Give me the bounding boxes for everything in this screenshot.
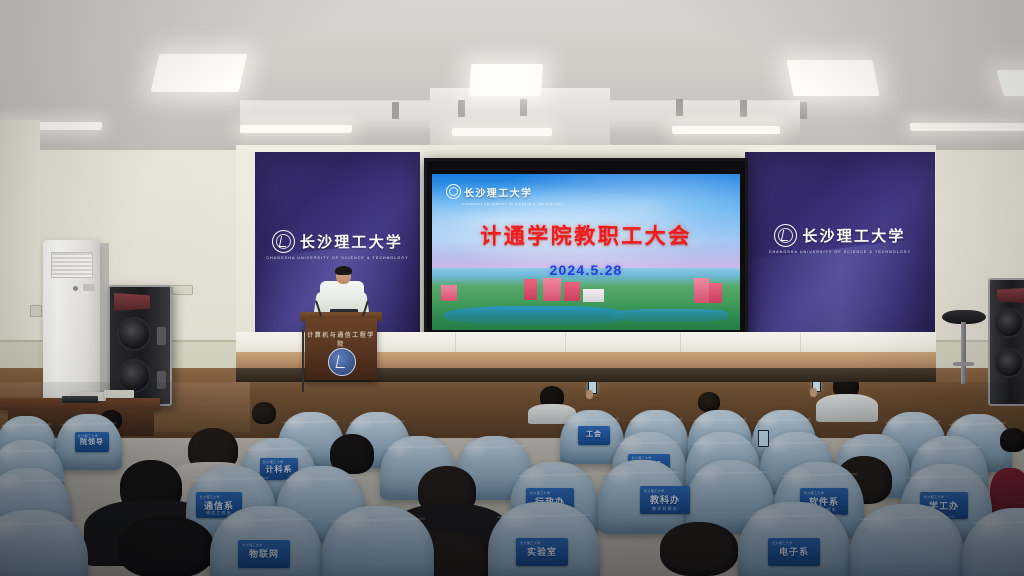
ceiling-slat [740, 100, 747, 117]
ceiling-panel-light [787, 60, 880, 96]
ceiling-slat [800, 102, 807, 119]
screen-building [524, 279, 536, 300]
ceiling-panel-light [151, 54, 248, 92]
attendee-head [252, 402, 276, 424]
speaker-horn [114, 293, 150, 311]
ceiling-strip-light [672, 126, 781, 134]
attendee-hand [810, 388, 817, 397]
attendee-head [698, 392, 720, 412]
ceiling-slat [392, 102, 399, 119]
screen-greenery [432, 304, 740, 330]
bar-stool-footrest [953, 362, 974, 366]
podium-emblem-icon [328, 348, 356, 376]
seat-nameplate: 长沙理工大学 院领导 [75, 432, 109, 452]
ceiling-soffit-center [430, 88, 610, 146]
attendee-head [660, 522, 738, 576]
seat-nameplate: 长沙理工大学 电子系 [768, 538, 820, 566]
ceiling-strip-light [452, 128, 552, 136]
wall-outlet [172, 285, 193, 295]
podium-label: 计算机与通信工程学院 [305, 330, 377, 348]
speaker-driver [994, 308, 1024, 338]
led-screen: 长沙理工大学 CHANGSHA UNIVERSITY OF SCIENCE & … [432, 174, 740, 330]
banner-right-brand: 长沙理工大学 CHANGSHA UNIVERSITY OF SCIENCE & … [745, 224, 935, 254]
university-seal-icon [774, 224, 797, 247]
air-conditioner [43, 240, 100, 400]
nameplate-header: 长沙理工大学 [520, 541, 540, 545]
wall-outlet [30, 305, 42, 317]
seat-nameplate: 长沙理工大学 物联网 [238, 540, 290, 568]
nameplate-header: 长沙理工大学 [242, 543, 262, 547]
ceiling-slat [520, 99, 527, 116]
university-seal-icon [272, 230, 295, 253]
screen-building [694, 278, 709, 303]
screen-building [441, 285, 456, 301]
banner-left-university-en: CHANGSHA UNIVERSITY OF SCIENCE & TECHNOL… [255, 256, 420, 260]
ceiling-slat [676, 99, 683, 116]
ceiling-slat [458, 100, 465, 117]
podium: 计算机与通信工程学院 [305, 318, 377, 380]
ceiling-strip-light [240, 125, 353, 133]
screen-building [583, 289, 605, 301]
ceiling-strip-light [910, 123, 1024, 131]
speaker-driver [117, 317, 151, 351]
audience-seating-area: 长沙理工大学 院领导 工会 长沙理工大学 计科系 长沙理工大学 网工系 网络工程… [0, 382, 1024, 576]
led-screen-bezel: 长沙理工大学 CHANGSHA UNIVERSITY OF SCIENCE & … [424, 158, 748, 352]
screen-building [543, 278, 561, 302]
bar-stool-post [961, 322, 966, 384]
university-seal-icon [446, 184, 461, 199]
nameplate-main: 工会 [578, 429, 610, 439]
screen-logo-cn: 长沙理工大学 [464, 188, 532, 199]
banner-right: 长沙理工大学 CHANGSHA UNIVERSITY OF SCIENCE & … [745, 152, 935, 352]
screen-date: 2024.5.28 [432, 262, 740, 278]
attendee-hand [586, 390, 593, 399]
speaker-driver [994, 348, 1024, 378]
ceiling-panel-light [469, 64, 543, 96]
ac-vent-grille [51, 252, 93, 278]
nameplate-sub: 教学科研办 [640, 506, 690, 512]
nameplate-header: 长沙理工大学 [772, 541, 792, 545]
banner-right-university-cn: 长沙理工大学 [802, 227, 905, 245]
screen-university-logo: 长沙理工大学 CHANGSHA UNIVERSITY OF SCIENCE & … [446, 183, 563, 206]
smartphone [758, 430, 769, 447]
nameplate-main: 教科办 [640, 493, 690, 506]
attendee-shoulders [816, 394, 878, 422]
nameplate-main: 院领导 [75, 437, 109, 447]
banner-left-university-cn: 长沙理工大学 [300, 233, 403, 251]
seat-nameplate: 工会 [578, 426, 610, 445]
seat-nameplate: 长沙理工大学 教科办 教学科研办 [640, 486, 690, 514]
speaker-horn [997, 288, 1024, 303]
nameplate-main: 电子系 [768, 545, 820, 558]
case-handle [157, 327, 166, 345]
nameplate-main: 物联网 [238, 547, 290, 560]
banner-left-brand: 长沙理工大学 CHANGSHA UNIVERSITY OF SCIENCE & … [255, 230, 420, 260]
screen-logo-en: CHANGSHA UNIVERSITY OF SCIENCE & TECHNOL… [462, 203, 563, 206]
presenter-hair [335, 266, 352, 275]
nameplate-header: 长沙理工大学 [644, 489, 664, 493]
screen-building [709, 283, 721, 303]
screen-title: 计通学院教职工大会 [432, 220, 740, 250]
seat [0, 510, 88, 576]
lecture-hall-photo: 长沙理工大学 CHANGSHA UNIVERSITY OF SCIENCE & … [0, 0, 1024, 576]
ac-control-panel [83, 284, 95, 291]
ac-indicator-icon [73, 286, 78, 291]
banner-right-university-en: CHANGSHA UNIVERSITY OF SCIENCE & TECHNOL… [745, 250, 935, 254]
attendee-head [118, 516, 214, 576]
seat-nameplate: 长沙理工大学 实验室 [516, 538, 568, 566]
screen-building [564, 282, 579, 301]
attendee-head [1000, 428, 1024, 452]
nameplate-main: 实验室 [516, 545, 568, 558]
